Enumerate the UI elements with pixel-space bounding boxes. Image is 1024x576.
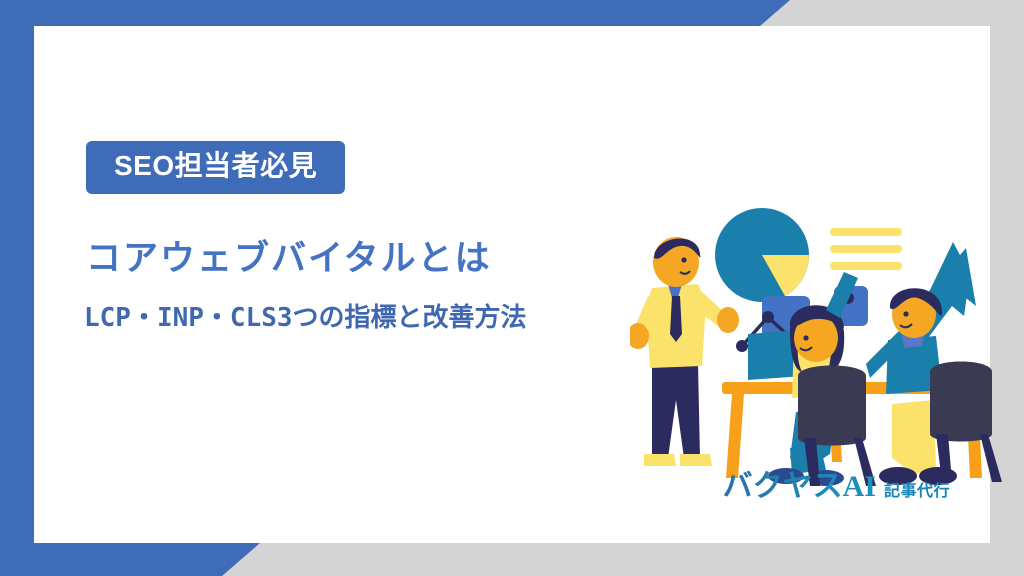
business-presentation-illustration — [630, 186, 1006, 504]
slide-canvas: SEO担当者必見 コアウェブバイタルとは LCP・INP・CLS3つの指標と改善… — [0, 0, 1024, 576]
left-blue-band — [0, 0, 34, 576]
top-blue-band — [0, 0, 790, 26]
brand-logo: バクヤスAI 記事代行 — [723, 461, 950, 505]
pie-chart-icon — [715, 208, 809, 302]
brand-logo-sub: 記事代行 — [884, 477, 950, 501]
content-card: SEO担当者必見 コアウェブバイタルとは LCP・INP・CLS3つの指標と改善… — [34, 26, 990, 543]
status-badge: SEO担当者必見 — [86, 141, 345, 194]
page-subtitle: LCP・INP・CLS3つの指標と改善方法 — [84, 300, 644, 337]
page-title: コアウェブバイタルとは — [86, 238, 492, 280]
bar-lines-icon — [830, 228, 902, 270]
bottom-blue-band — [0, 543, 260, 576]
brand-logo-main: バクヤスAI — [723, 461, 876, 505]
